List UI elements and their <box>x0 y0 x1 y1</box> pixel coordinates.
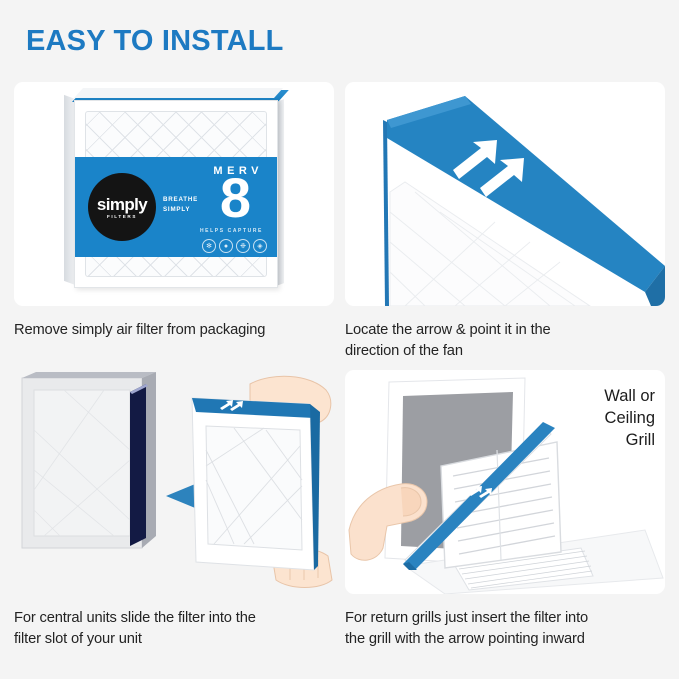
helps-capture-icon-row: ✻ ● ❉ ◈ <box>202 239 267 253</box>
grill-annotation-label: Wall or Ceiling Grill <box>604 386 655 452</box>
box-label-band: simply FILTERS BREATHE SIMPLY MERV 8 HEL… <box>75 157 277 257</box>
box-tagline: BREATHE SIMPLY <box>163 195 198 214</box>
box-top-edge-white <box>74 88 283 98</box>
brand-subtitle: FILTERS <box>107 214 137 219</box>
frame-left-edge <box>383 120 389 306</box>
step-4-illustration-card: Wall or Ceiling Grill <box>345 370 665 594</box>
step-3: For central units slide the filter into … <box>14 370 334 650</box>
easy-to-install-infographic: EASY TO INSTALL simply FILTERS BREATHE S… <box>0 0 679 679</box>
held-filter <box>192 398 320 570</box>
step-2-illustration-card <box>345 82 665 306</box>
step-1: simply FILTERS BREATHE SIMPLY MERV 8 HEL… <box>14 82 334 341</box>
step-2: Locate the arrow & point it in the direc… <box>345 82 665 362</box>
step-2-caption: Locate the arrow & point it in the direc… <box>345 320 655 362</box>
product-box-illustration: simply FILTERS BREATHE SIMPLY MERV 8 HEL… <box>64 88 286 298</box>
box-front-face: simply FILTERS BREATHE SIMPLY MERV 8 HEL… <box>74 100 278 288</box>
step-3-illustration-card <box>14 370 334 594</box>
pet-dander-icon: ◈ <box>253 239 267 253</box>
brand-logo: simply FILTERS <box>88 173 156 241</box>
filter-slot <box>130 384 146 546</box>
dust-icon: ● <box>219 239 233 253</box>
hvac-unit <box>22 372 156 548</box>
brand-name: simply <box>97 196 147 213</box>
step-1-illustration-card: simply FILTERS BREATHE SIMPLY MERV 8 HEL… <box>14 82 334 306</box>
step-1-caption: Remove simply air filter from packaging <box>14 320 324 341</box>
step-4-caption: For return grills just insert the filter… <box>345 608 655 650</box>
pollen-icon: ✻ <box>202 239 216 253</box>
central-unit-slot-illustration <box>14 370 334 594</box>
page-title: EASY TO INSTALL <box>26 27 284 56</box>
step-3-caption: For central units slide the filter into … <box>14 608 324 650</box>
lint-icon: ❉ <box>236 239 250 253</box>
step-4: Wall or Ceiling Grill For return grills … <box>345 370 665 650</box>
merv-rating-value: 8 <box>220 170 251 226</box>
airflow-arrow-illustration <box>345 82 665 306</box>
helps-capture-label: HELPS CAPTURE <box>200 228 263 234</box>
